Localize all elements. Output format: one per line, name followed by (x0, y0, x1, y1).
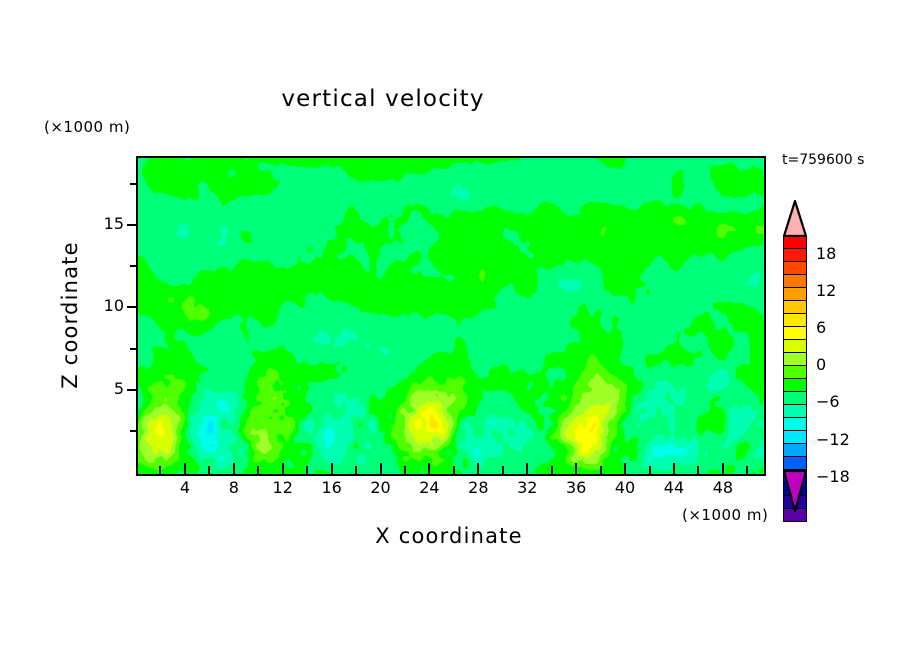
x-tick-minor (697, 466, 699, 474)
x-tick (477, 463, 479, 474)
x-tick-label: 16 (312, 478, 352, 497)
colorbar-tick-label: −6 (816, 392, 840, 411)
colorbar-tick-label: 0 (816, 355, 826, 374)
y-axis-units-label: (×1000 m) (44, 118, 130, 136)
colorbar-band (783, 392, 807, 405)
x-tick (380, 463, 382, 474)
colorbar-band (783, 444, 807, 457)
x-axis-title: X coordinate (136, 524, 762, 548)
x-tick (184, 463, 186, 474)
x-tick-minor (502, 466, 504, 474)
x-tick-minor (551, 466, 553, 474)
x-tick-minor (159, 466, 161, 474)
x-tick (526, 463, 528, 474)
colorbar-band (783, 314, 807, 327)
colorbar-tick-label: 12 (816, 281, 836, 300)
x-tick-label: 36 (556, 478, 596, 497)
x-tick (233, 463, 235, 474)
colorbar-tick-label: −18 (816, 467, 850, 486)
colorbar-band (783, 340, 807, 353)
x-tick-label: 12 (263, 478, 303, 497)
x-axis-units-label: (×1000 m) (682, 506, 768, 524)
x-tick-label: 32 (507, 478, 547, 497)
colorbar-tick-label: −12 (816, 430, 850, 449)
colorbar-band (783, 301, 807, 314)
y-tick-label: 5 (84, 379, 124, 398)
colorbar-tick-label: 18 (816, 244, 836, 263)
x-tick-label: 44 (654, 478, 694, 497)
colorbar-tick-label: 6 (816, 318, 826, 337)
y-tick-minor (130, 183, 138, 185)
y-tick-minor (130, 348, 138, 350)
x-tick (282, 463, 284, 474)
x-tick-label: 20 (361, 478, 401, 497)
colorbar-band (783, 431, 807, 444)
x-tick-minor (746, 466, 748, 474)
colorbar-band (783, 262, 807, 275)
colorbar-band (783, 236, 807, 249)
x-tick-minor (208, 466, 210, 474)
x-tick-minor (649, 466, 651, 474)
x-tick-label: 48 (703, 478, 743, 497)
x-tick-minor (355, 466, 357, 474)
figure-canvas: vertical velocity (×1000 m) (×1000 m) X … (0, 0, 904, 654)
x-tick-minor (453, 466, 455, 474)
colorbar-band (783, 288, 807, 301)
y-tick (127, 306, 138, 308)
colorbar-band (783, 405, 807, 418)
y-tick-minor (130, 265, 138, 267)
x-tick-label: 4 (165, 478, 205, 497)
y-tick (127, 224, 138, 226)
colorbar-band (783, 379, 807, 392)
colorbar-cap-bottom (783, 469, 807, 513)
x-tick (722, 463, 724, 474)
x-tick-label: 8 (214, 478, 254, 497)
contour-plot-area (136, 156, 766, 476)
colorbar-band (783, 275, 807, 288)
y-tick-label: 15 (84, 214, 124, 233)
vertical-velocity-field (138, 158, 764, 474)
colorbar-band (783, 327, 807, 340)
colorbar-band (783, 366, 807, 379)
colorbar-band (783, 418, 807, 431)
x-tick (624, 463, 626, 474)
x-tick (673, 463, 675, 474)
y-tick (127, 389, 138, 391)
colorbar-band (783, 249, 807, 262)
colorbar-cap-top (783, 199, 807, 237)
x-tick-minor (257, 466, 259, 474)
x-tick-minor (404, 466, 406, 474)
y-tick-minor (130, 430, 138, 432)
x-tick-label: 28 (458, 478, 498, 497)
page-title: vertical velocity (0, 86, 766, 112)
x-tick-minor (600, 466, 602, 474)
x-tick-label: 24 (409, 478, 449, 497)
y-tick-label: 10 (84, 296, 124, 315)
x-tick (428, 463, 430, 474)
colorbar-band (783, 353, 807, 366)
x-tick (331, 463, 333, 474)
x-tick-label: 40 (605, 478, 645, 497)
x-tick-minor (306, 466, 308, 474)
y-axis-title: Z coordinate (58, 190, 82, 440)
time-annotation: t=759600 s (782, 152, 864, 168)
x-tick (575, 463, 577, 474)
